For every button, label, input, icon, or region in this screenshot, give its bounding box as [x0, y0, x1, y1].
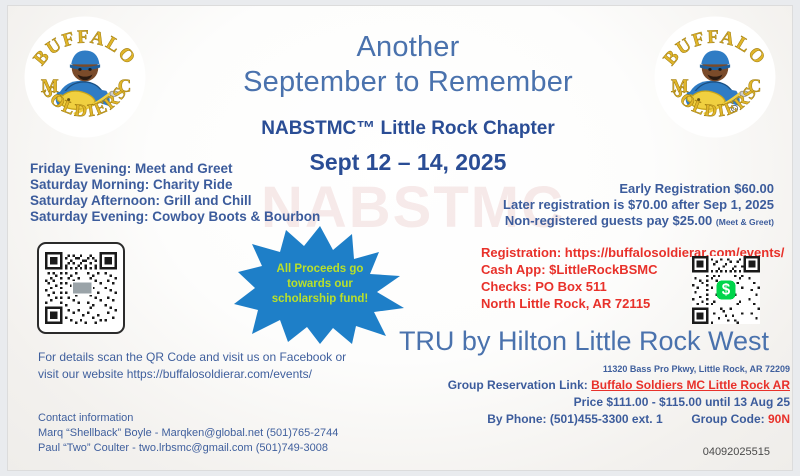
svg-text:C: C [118, 76, 132, 97]
event-qr-code[interactable] [37, 242, 125, 334]
hotel-price: Price $111.00 - $115.00 until 13 Aug 25 [388, 394, 790, 411]
hotel-address: 11320 Bass Pro Pkwy, Little Rock, AR 722… [438, 364, 790, 374]
chapter-name: NABSTMC™ Little Rock Chapter [188, 118, 628, 140]
early-registration-price: Early Registration $60.00 [444, 181, 774, 197]
hotel-phone: By Phone: (501)455-3300 ext. 1 [487, 412, 662, 426]
registration-pricing: Early Registration $60.00 Later registra… [444, 181, 774, 230]
scan-line-1: For details scan the QR Code and visit u… [38, 349, 368, 366]
schedule-list: Friday Evening: Meet and Greet Saturday … [30, 161, 320, 225]
schedule-item: Saturday Morning: Charity Ride [30, 177, 320, 193]
buffalo-soldiers-logo-left: BUFFALO SOLDIERS M C [22, 14, 148, 140]
headline-line-2: September to Remember [188, 66, 628, 99]
contact-title: Contact information [38, 411, 338, 426]
schedule-item: Friday Evening: Meet and Greet [30, 161, 320, 177]
hotel-reservation-details: Group Reservation Link: Buffalo Soldiers… [388, 377, 790, 428]
svg-text:C: C [748, 76, 762, 97]
hotel-phone-line: By Phone: (501)455-3300 ext. 1 Group Cod… [388, 411, 790, 428]
scan-line-2: visit our website https://buffalosoldier… [38, 366, 368, 383]
guest-price: Non-registered guests pay $25.00 [505, 213, 712, 228]
contact-information: Contact information Marq “Shellback” Boy… [38, 411, 338, 456]
svg-text:M: M [671, 76, 689, 97]
flyer-page: NABSTMC [8, 6, 792, 470]
svg-text:M: M [41, 76, 59, 97]
svg-text:$: $ [722, 282, 731, 299]
serial-number: 04092025515 [703, 446, 770, 458]
group-code-value: 90N [768, 412, 790, 426]
group-reservation-link[interactable]: Buffalo Soldiers MC Little Rock AR [591, 378, 790, 392]
group-code-label: Group Code: [691, 412, 764, 426]
event-flyer: NABSTMC [0, 0, 800, 476]
schedule-item: Saturday Evening: Cowboy Boots & Bourbon [30, 209, 320, 225]
guest-price-note: (Meet & Greet) [716, 217, 774, 227]
headline-line-1: Another [188, 31, 628, 64]
contact-person-2: Paul “Two” Coulter - two.lrbsmc@gmail.co… [38, 441, 338, 456]
hotel-name: TRU by Hilton Little Rock West [378, 326, 790, 357]
buffalo-soldiers-logo-right: R BUFFALO SOLDIERS M C [652, 14, 778, 140]
cash-app-qr-code[interactable]: $ [692, 256, 760, 324]
group-reservation-label: Group Reservation Link: [448, 378, 588, 392]
schedule-item: Saturday Afternoon: Grill and Chill [30, 193, 320, 209]
scan-instructions: For details scan the QR Code and visit u… [38, 349, 368, 383]
contact-person-1: Marq “Shellback” Boyle - Marqken@global.… [38, 426, 338, 441]
group-reservation-line: Group Reservation Link: Buffalo Soldiers… [388, 377, 790, 394]
later-registration-price: Later registration is $70.00 after Sep 1… [444, 197, 774, 213]
guest-price-line: Non-registered guests pay $25.00 (Meet &… [444, 213, 774, 230]
